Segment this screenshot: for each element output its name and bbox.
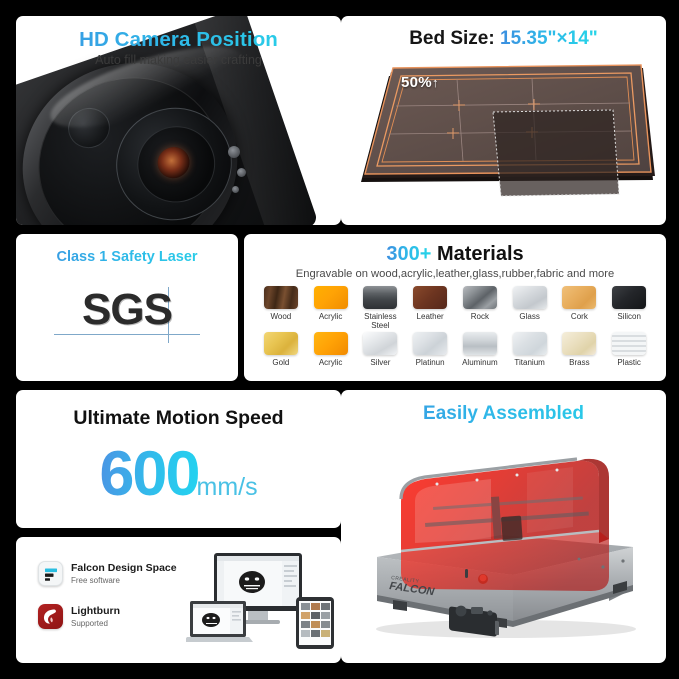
material-swatch-icon (463, 332, 497, 355)
material-swatch-icon (314, 332, 348, 355)
bed-percent-overlay: 50%↑ (401, 74, 439, 91)
materials-heading-block: 300+ Materials Engravable on wood,acryli… (244, 234, 666, 280)
material-swatch-icon (314, 286, 348, 309)
machine-toggle-switch (465, 569, 468, 578)
material-swatch-icon (413, 286, 447, 309)
monitor-artwork (239, 571, 265, 593)
material-cell: Rock (455, 286, 505, 330)
material-cell: Gold (256, 332, 306, 367)
card-hd-camera: HD Camera Position Auto fill making easi… (16, 16, 341, 225)
material-cell: Silver (356, 332, 406, 367)
bed-percent-value: 50% (401, 74, 432, 91)
card-easily-assembled: Easily Assembled (341, 390, 666, 663)
materials-title-suffix: Materials (437, 243, 524, 265)
falcon-logo-icon (38, 561, 63, 586)
laptop-artwork (202, 613, 220, 627)
devices-svg (186, 549, 336, 659)
bed-illustration: 50%↑ (341, 50, 666, 202)
bed-heading-block: Bed Size: 15.35"×14" (341, 16, 666, 50)
safety-title: Class 1 Safety Laser (16, 234, 238, 265)
material-cell: Silicon (604, 286, 654, 330)
material-cell: Cork (555, 286, 605, 330)
camera-sensor-dot (228, 146, 240, 158)
material-swatch-icon (363, 332, 397, 355)
material-cell: Plastic (604, 332, 654, 367)
material-swatch-icon (612, 332, 646, 355)
materials-grid: WoodAcrylicStainless SteelLeatherRockGla… (244, 280, 666, 368)
material-label: Rock (455, 312, 505, 321)
materials-subtitle: Engravable on wood,acrylic,leather,glass… (244, 268, 666, 280)
camera-title: HD Camera Position (16, 28, 341, 52)
bed-arrow-icon: ↑ (432, 75, 439, 90)
material-swatch-icon (264, 286, 298, 309)
infographic-page: HD Camera Position Auto fill making easi… (0, 0, 679, 679)
material-swatch-icon (264, 332, 298, 355)
material-label: Stainless Steel (356, 312, 406, 330)
machine-svg: CREALITY FALCON (341, 439, 666, 643)
material-swatch-icon (463, 286, 497, 309)
material-label: Platinun (405, 358, 455, 367)
card-safety-laser: Class 1 Safety Laser SGS (16, 234, 238, 381)
material-label: Silver (356, 358, 406, 367)
camera-sensor-dot (237, 168, 246, 177)
material-label: Titanium (505, 358, 555, 367)
software-text-block: Falcon Design SpaceFree software (71, 562, 177, 585)
machine-screen (471, 607, 483, 614)
material-cell: Titanium (505, 332, 555, 367)
material-cell: Glass (505, 286, 555, 330)
speed-value: 600 (99, 439, 198, 509)
material-swatch-icon (562, 332, 596, 355)
machine-illustration: CREALITY FALCON (341, 425, 666, 643)
software-note: Free software (71, 576, 177, 585)
material-cell: Stainless Steel (356, 286, 406, 330)
bed-label: Bed Size: (409, 28, 495, 49)
software-note: Supported (71, 619, 120, 628)
card-motion-speed: Ultimate Motion Speed 600mm/s (16, 390, 341, 528)
materials-count: 300+ (386, 243, 431, 265)
material-label: Acrylic (306, 312, 356, 321)
material-label: Gold (256, 358, 306, 367)
material-label: Glass (505, 312, 555, 321)
material-swatch-icon (513, 286, 547, 309)
monitor-stand (248, 611, 268, 620)
machine-dpad-icon (456, 606, 467, 617)
machine-knob (487, 610, 492, 615)
material-label: Silicon (604, 312, 654, 321)
sgs-logo: SGS (16, 281, 238, 349)
material-swatch-icon (513, 332, 547, 355)
material-label: Wood (256, 312, 306, 321)
material-label: Leather (405, 312, 455, 321)
material-cell: Leather (405, 286, 455, 330)
material-label: Plastic (604, 358, 654, 367)
material-cell: Platinun (405, 332, 455, 367)
software-name: Lightburn (71, 605, 120, 618)
sgs-wordmark: SGS (16, 285, 238, 335)
camera-heading-block: HD Camera Position Auto fill making easi… (16, 16, 341, 67)
bed-diagram-svg (341, 54, 666, 202)
software-item[interactable]: Falcon Design SpaceFree software (38, 561, 188, 586)
material-swatch-icon (413, 332, 447, 355)
laptop-base (186, 637, 253, 642)
material-cell: Brass (555, 332, 605, 367)
software-device-mockups (186, 549, 336, 663)
bed-title-row: Bed Size: 15.35"×14" (341, 28, 666, 50)
lightburn-logo-icon (38, 604, 63, 629)
material-label: Cork (555, 312, 605, 321)
material-cell: Acrylic (306, 286, 356, 330)
card-software-support: Falcon Design SpaceFree softwareLightbur… (16, 537, 341, 663)
speed-unit: mm/s (197, 473, 258, 501)
card-materials: 300+ Materials Engravable on wood,acryli… (244, 234, 666, 381)
material-cell: Acrylic (306, 332, 356, 367)
material-cell: Wood (256, 286, 306, 330)
software-item[interactable]: LightburnSupported (38, 604, 188, 629)
assembled-title: Easily Assembled (341, 390, 666, 425)
speed-value-row: 600mm/s (16, 438, 341, 510)
material-swatch-icon (363, 286, 397, 309)
material-label: Aluminum (455, 358, 505, 367)
card-bed-size: Bed Size: 15.35"×14" (341, 16, 666, 225)
material-swatch-icon (612, 286, 646, 309)
bed-value: 15.35"×14" (500, 28, 598, 49)
materials-title-row: 300+ Materials (244, 243, 666, 266)
material-swatch-icon (562, 286, 596, 309)
material-label: Acrylic (306, 358, 356, 367)
software-text-block: LightburnSupported (71, 605, 120, 628)
software-name: Falcon Design Space (71, 562, 177, 575)
software-list: Falcon Design SpaceFree softwareLightbur… (38, 561, 188, 647)
camera-sensor-dot (232, 186, 239, 193)
material-label: Brass (555, 358, 605, 367)
camera-subtitle: Auto fill making easier crafting (16, 53, 341, 67)
material-cell: Aluminum (455, 332, 505, 367)
machine-usb-port (495, 621, 499, 636)
speed-title: Ultimate Motion Speed (16, 390, 341, 430)
